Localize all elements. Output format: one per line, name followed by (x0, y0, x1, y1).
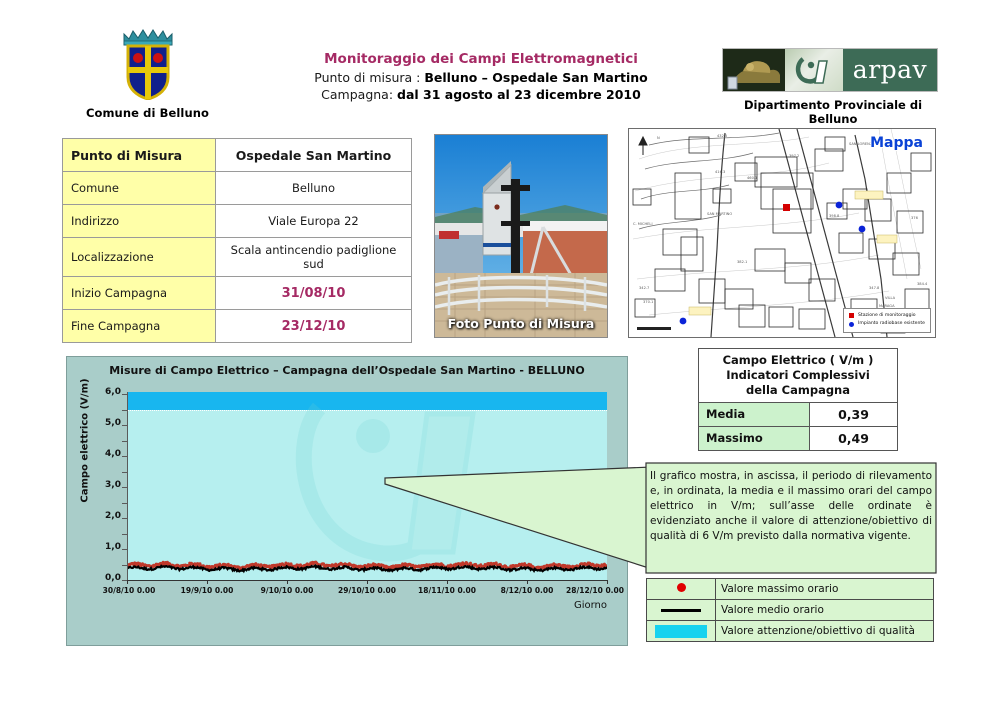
y-tick-label: 4,0 (71, 449, 121, 459)
page-title: Monitoraggio dei Campi Elettromagnetici (246, 50, 716, 69)
legend-symbol-mean (647, 600, 716, 621)
svg-text:SAN MARTINO: SAN MARTINO (707, 212, 732, 216)
map-legend-item: Stazione di monitoraggio (849, 312, 925, 321)
header-title-block: Monitoraggio dei Campi Elettromagnetici … (246, 50, 716, 103)
y-tick-label: 2,0 (71, 511, 121, 521)
y-tick-label: 6,0 (71, 387, 121, 397)
winged-lion-icon (723, 49, 785, 91)
belluno-crest-icon (117, 28, 179, 102)
table-row: Indirizzo Viale Europa 22 (63, 205, 412, 238)
x-tick-label: 30/8/10 0.00 (103, 586, 156, 595)
table-row: Media 0,39 (699, 402, 898, 426)
blue-dot-icon (849, 322, 854, 327)
table-row: Valore medio orario (647, 600, 934, 621)
table-row: Valore attenzione/obiettivo di qualità (647, 621, 934, 642)
measurement-point-photo: Foto Punto di Misura (434, 134, 608, 338)
table-row: Fine Campagna 23/12/10 (63, 310, 412, 343)
info-value: Viale Europa 22 (216, 205, 412, 238)
svg-text:397.2: 397.2 (789, 154, 799, 158)
info-key: Localizzazione (63, 238, 216, 277)
arpav-logo: arpav (722, 48, 938, 92)
red-square-icon (849, 313, 854, 318)
arpav-symbol-icon (785, 49, 843, 91)
info-value: Belluno (216, 172, 412, 205)
indicators-header-line: Campo Elettrico ( V/m ) (706, 353, 890, 368)
table-row: Massimo 0,49 (699, 426, 898, 450)
arpav-wordmark: arpav (843, 49, 937, 91)
info-key: Comune (63, 172, 216, 205)
shield-icon (126, 44, 170, 100)
location-map: N432.5416.3 460.1397.2398.8 C. MICHELISA… (628, 128, 936, 338)
info-key: Punto di Misura (63, 139, 216, 172)
indicators-header-line: della Campagna (706, 383, 890, 398)
info-key: Fine Campagna (63, 310, 216, 343)
photo-caption: Foto Punto di Misura (435, 316, 607, 331)
info-key: Indirizzo (63, 205, 216, 238)
svg-text:C. MICHELI: C. MICHELI (633, 222, 653, 226)
indicator-label: Massimo (699, 426, 810, 450)
info-value: Scala antincendio padiglione sud (216, 238, 412, 277)
arpav-logo-block: arpav Dipartimento Provinciale di Bellun… (722, 48, 944, 126)
svg-text:416.3: 416.3 (715, 170, 725, 174)
info-value: 23/12/10 (216, 310, 412, 343)
svg-text:432.5: 432.5 (717, 134, 727, 138)
cyan-block-icon (655, 625, 707, 638)
map-legend-label: Impianto radiobase esistente (858, 320, 925, 329)
info-value: 31/08/10 (216, 277, 412, 310)
indicator-value: 0,39 (810, 402, 898, 426)
svg-text:370.1: 370.1 (643, 300, 653, 304)
campaign-prefix: Campagna: (321, 87, 397, 102)
indicator-label: Media (699, 402, 810, 426)
measure-point-prefix: Punto di misura : (314, 70, 424, 85)
svg-text:384.4: 384.4 (917, 282, 928, 286)
map-legend: Stazione di monitoraggio Impianto radiob… (843, 308, 931, 333)
campaign-line: Campagna: dal 31 agosto al 23 dicembre 2… (246, 86, 716, 103)
y-tick-label: 1,0 (71, 542, 121, 552)
info-value: Ospedale San Martino (216, 139, 412, 172)
table-row: Inizio Campagna 31/08/10 (63, 277, 412, 310)
indicators-header-line: Indicatori Complessivi (706, 368, 890, 383)
measurement-info-table: Punto di Misura Ospedale San Martino Com… (62, 138, 412, 343)
svg-text:398.8: 398.8 (829, 214, 840, 218)
y-axis-label: Campo elettrico (V/m) (80, 371, 91, 511)
comune-logo-block: Comune di Belluno (75, 28, 220, 120)
table-row: Punto di Misura Ospedale San Martino (63, 139, 412, 172)
svg-text:347.8: 347.8 (869, 286, 880, 290)
x-tick-label: 18/11/10 0.00 (418, 586, 476, 595)
svg-text:VILLA: VILLA (885, 296, 896, 300)
legend-label: Valore massimo orario (716, 579, 934, 600)
legend-label: Valore attenzione/obiettivo di qualità (716, 621, 934, 642)
legend-symbol-max (647, 579, 716, 600)
info-key: Inizio Campagna (63, 277, 216, 310)
page-header: Comune di Belluno Monitoraggio dei Campi… (0, 0, 992, 122)
svg-text:342.7: 342.7 (639, 286, 649, 290)
indicators-table: Campo Elettrico ( V/m ) Indicatori Compl… (698, 348, 898, 451)
svg-text:382.1: 382.1 (737, 260, 747, 264)
legend-symbol-threshold (647, 621, 716, 642)
x-tick-label: 9/10/10 0.00 (261, 586, 314, 595)
red-dot-icon (677, 583, 686, 592)
x-tick-label: 19/9/10 0.00 (181, 586, 234, 595)
table-row: Campo Elettrico ( V/m ) Indicatori Compl… (699, 349, 898, 403)
arpav-department-label: Dipartimento Provinciale di Belluno (722, 98, 944, 126)
x-axis-label: Giorno (574, 600, 607, 611)
y-axis (127, 392, 128, 581)
x-tick-label: 28/12/10 0.00 (566, 586, 624, 595)
svg-text:460.1: 460.1 (747, 176, 757, 180)
table-row: Localizzazione Scala antincendio padigli… (63, 238, 412, 277)
table-row: Comune Belluno (63, 172, 412, 205)
svg-text:376: 376 (911, 216, 919, 220)
callout-text: Il grafico mostra, in ascissa, il period… (650, 469, 932, 566)
indicator-value: 0,49 (810, 426, 898, 450)
chart-legend-table: Valore massimo orario Valore medio orari… (646, 578, 934, 642)
y-tick-label: 0,0 (71, 573, 121, 583)
map-label: Mappa (870, 135, 923, 151)
chart-title: Misure di Campo Elettrico – Campagna del… (67, 364, 627, 377)
indicators-header: Campo Elettrico ( V/m ) Indicatori Compl… (699, 349, 898, 403)
x-tick-label: 8/12/10 0.00 (501, 586, 554, 595)
campaign-value: dal 31 agosto al 23 dicembre 2010 (397, 87, 641, 102)
table-row: Valore massimo orario (647, 579, 934, 600)
measure-point-value: Belluno – Ospedale San Martino (424, 70, 647, 85)
map-legend-item: Impianto radiobase esistente (849, 320, 925, 329)
y-tick-label: 5,0 (71, 418, 121, 428)
svg-text:N: N (657, 136, 660, 140)
map-legend-label: Stazione di monitoraggio (858, 312, 916, 321)
x-tick-label: 29/10/10 0.00 (338, 586, 396, 595)
comune-label: Comune di Belluno (75, 106, 220, 120)
legend-label: Valore medio orario (716, 600, 934, 621)
y-tick-label: 3,0 (71, 480, 121, 490)
measure-point-line: Punto di misura : Belluno – Ospedale San… (246, 69, 716, 86)
black-line-icon (661, 609, 701, 612)
